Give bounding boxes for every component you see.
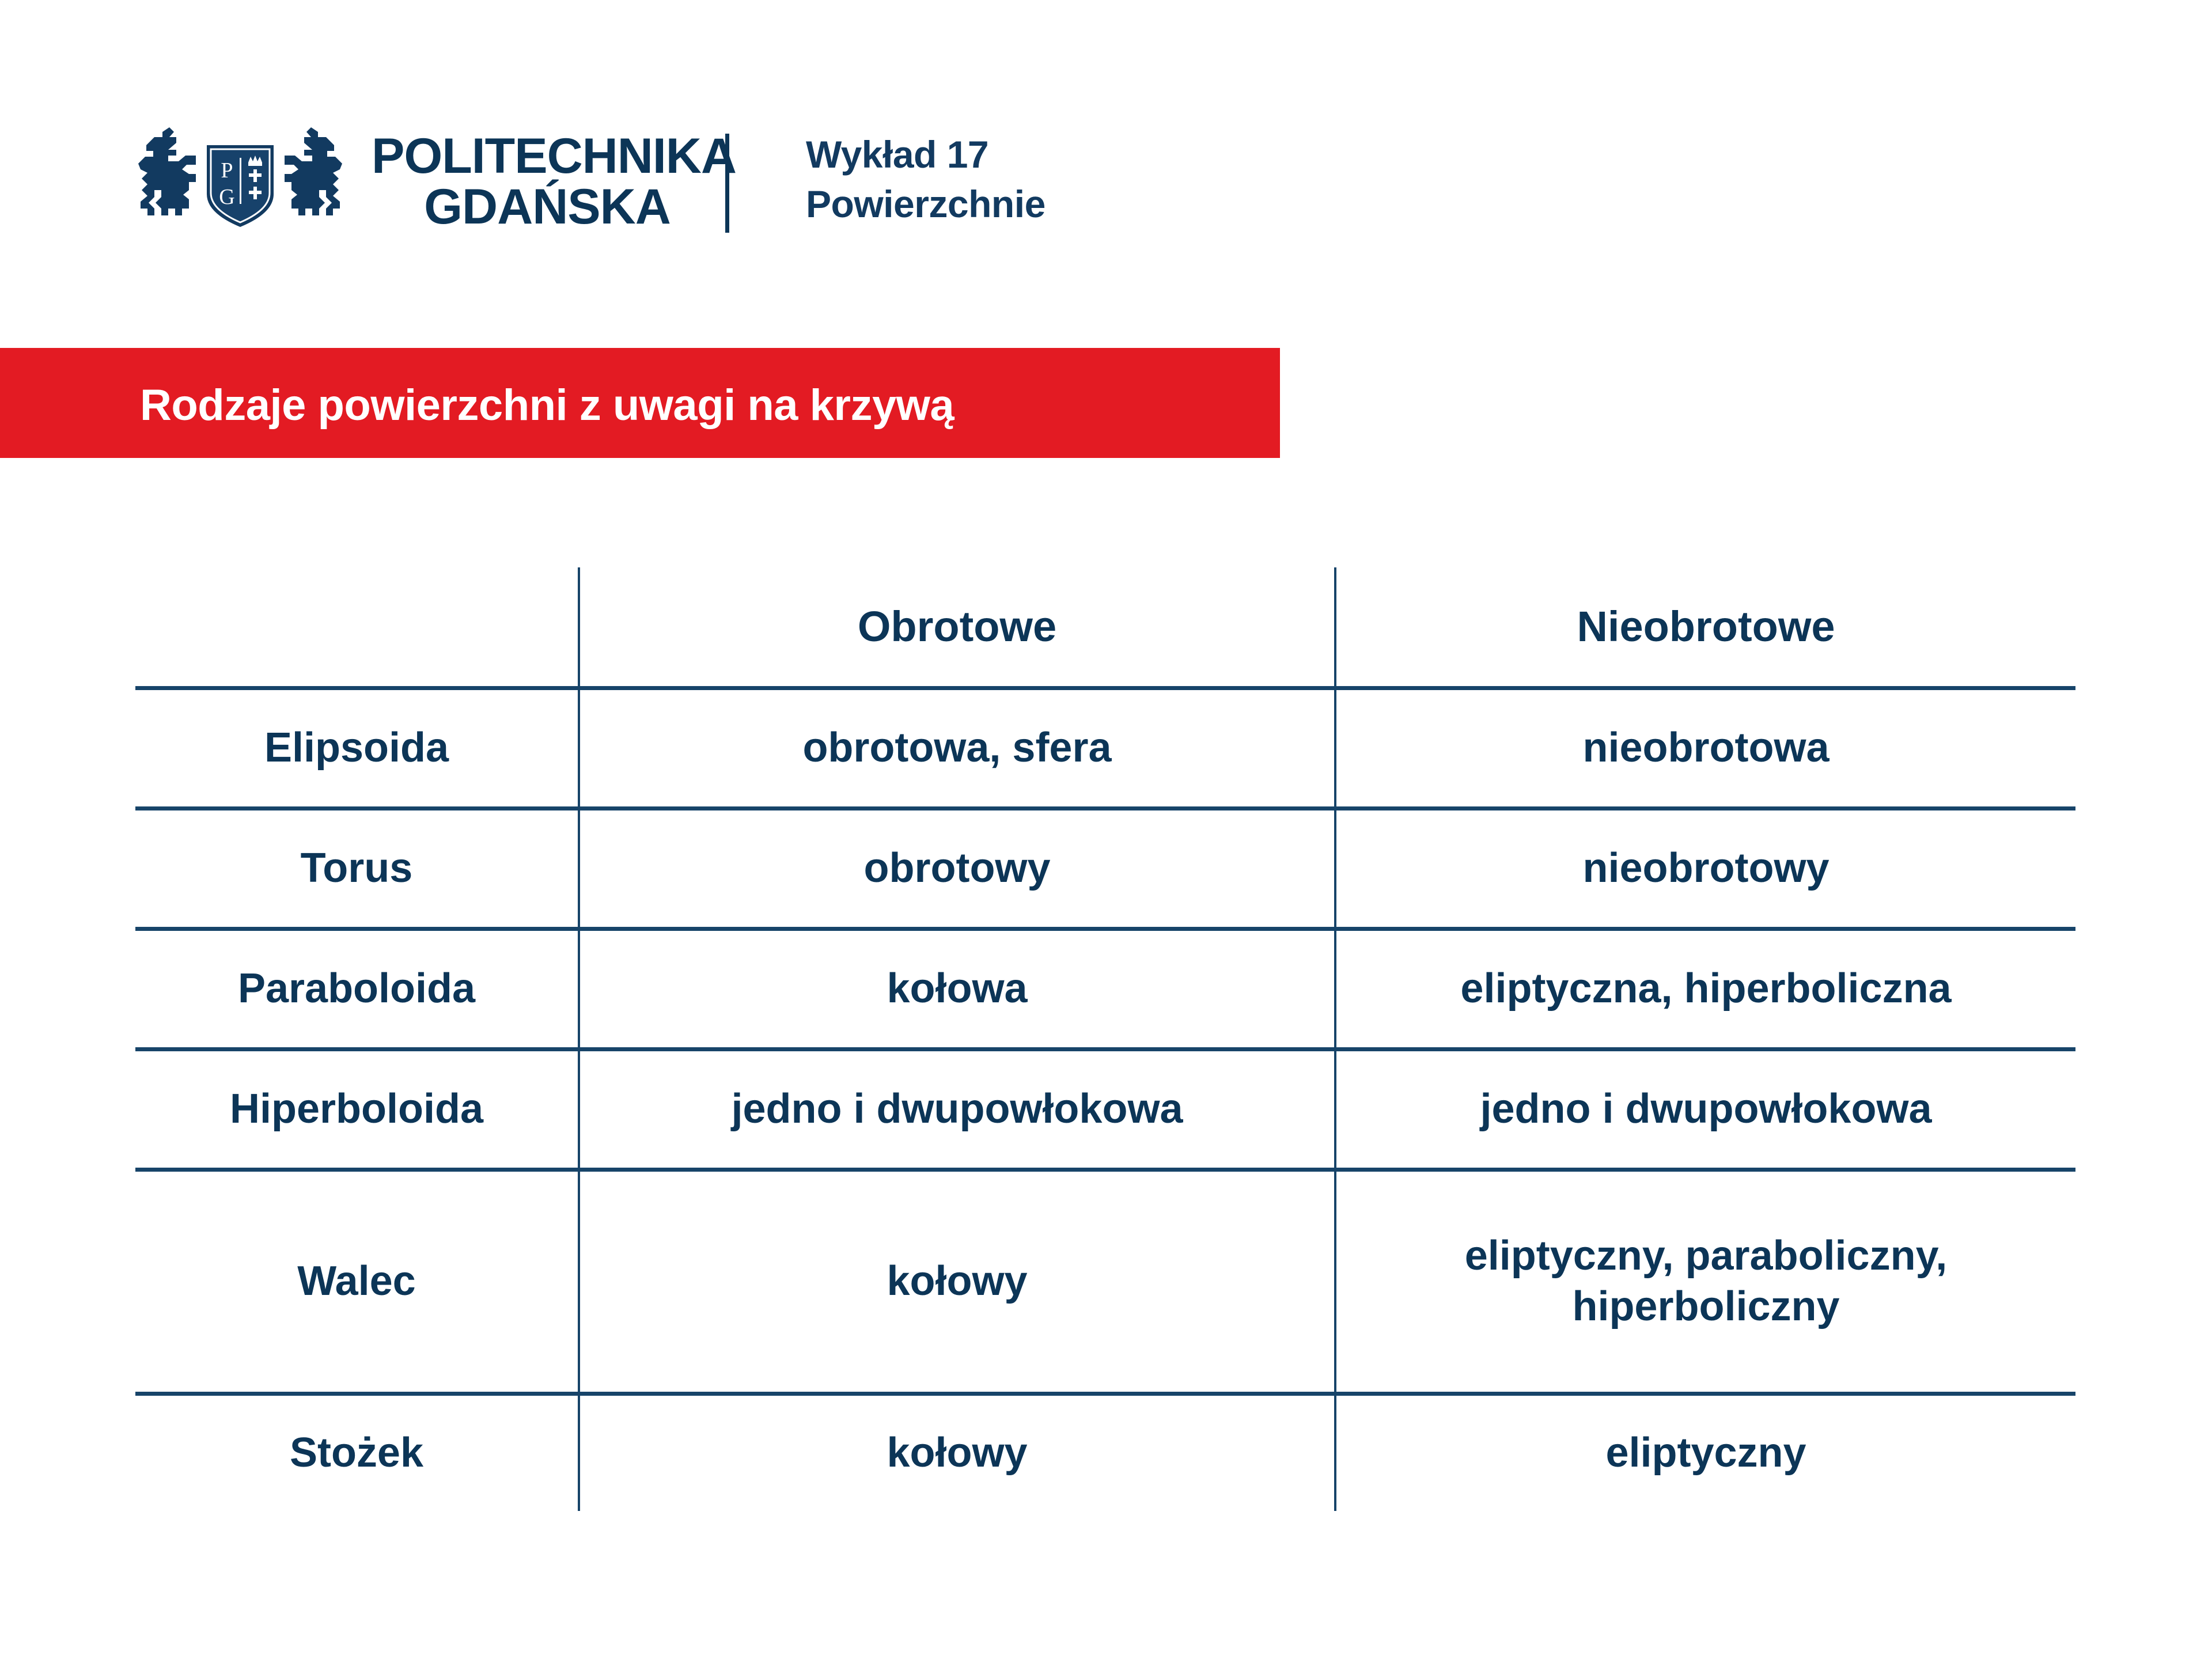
pg-crest-logo: P G <box>134 122 347 232</box>
university-name: POLITECHNIKA GDAŃSKA <box>372 131 723 232</box>
header-vertical-divider <box>725 134 729 233</box>
university-name-line2: GDAŃSKA <box>372 182 723 233</box>
cell-stozek-nieobrotowe: eliptyczny <box>1335 1394 2075 1512</box>
table-header-row: Obrotowe Nieobrotowe <box>135 567 2075 688</box>
cell-paraboloida-nieobrotowe: eliptyczna, hiperboliczna <box>1335 929 2075 1050</box>
cell-walec-nieobrotowe: eliptyczny, paraboliczny, hiperboliczny <box>1335 1170 2075 1394</box>
surface-types-table-wrap: Obrotowe Nieobrotowe Elipsoida obrotowa,… <box>135 567 2075 1489</box>
lecture-topic: Powierzchnie <box>806 180 1046 229</box>
table-row: Stożek kołowy eliptyczny <box>135 1394 2075 1512</box>
svg-text:G: G <box>219 185 234 209</box>
cell-hiperboloida-obrotowe: jedno i dwupowłokowa <box>579 1050 1335 1170</box>
row-label-torus: Torus <box>135 809 579 929</box>
table-row: Elipsoida obrotowa, sfera nieobrotowa <box>135 688 2075 809</box>
cell-walec-nieobrotowe-line2: hiperboliczny <box>1341 1282 2071 1332</box>
cell-stozek-obrotowe: kołowy <box>579 1394 1335 1512</box>
column-header-obrotowe: Obrotowe <box>579 567 1335 688</box>
table-corner-cell <box>135 567 579 688</box>
surface-types-table: Obrotowe Nieobrotowe Elipsoida obrotowa,… <box>135 567 2075 1511</box>
svg-text:P: P <box>221 158 233 183</box>
cell-hiperboloida-nieobrotowe: jedno i dwupowłokowa <box>1335 1050 2075 1170</box>
lecture-info: Wykład 17 Powierzchnie <box>806 130 1046 229</box>
row-label-walec: Walec <box>135 1170 579 1394</box>
row-label-stozek: Stożek <box>135 1394 579 1512</box>
row-label-elipsoida: Elipsoida <box>135 688 579 809</box>
section-title: Rodzaje powierzchni z uwagi na krzywą <box>140 380 954 430</box>
cell-elipsoida-obrotowe: obrotowa, sfera <box>579 688 1335 809</box>
university-name-line1: POLITECHNIKA <box>372 128 736 184</box>
row-label-hiperboloida: Hiperboloida <box>135 1050 579 1170</box>
cell-walec-nieobrotowe-line1: eliptyczny, paraboliczny, <box>1341 1231 2071 1282</box>
slide-header: P G POLITECHNIKA GDAŃSKA Wykład 17 Powie… <box>0 0 2212 323</box>
table-row: Hiperboloida jedno i dwupowłokowa jedno … <box>135 1050 2075 1170</box>
table-row: Walec kołowy eliptyczny, paraboliczny, h… <box>135 1170 2075 1394</box>
cell-elipsoida-nieobrotowe: nieobrotowa <box>1335 688 2075 809</box>
cell-torus-nieobrotowe: nieobrotowy <box>1335 809 2075 929</box>
cell-torus-obrotowe: obrotowy <box>579 809 1335 929</box>
lecture-number: Wykład 17 <box>806 130 1046 180</box>
table-row: Torus obrotowy nieobrotowy <box>135 809 2075 929</box>
cell-walec-obrotowe: kołowy <box>579 1170 1335 1394</box>
column-header-nieobrotowe: Nieobrotowe <box>1335 567 2075 688</box>
row-label-paraboloida: Paraboloida <box>135 929 579 1050</box>
table-row: Paraboloida kołowa eliptyczna, hiperboli… <box>135 929 2075 1050</box>
cell-paraboloida-obrotowe: kołowa <box>579 929 1335 1050</box>
